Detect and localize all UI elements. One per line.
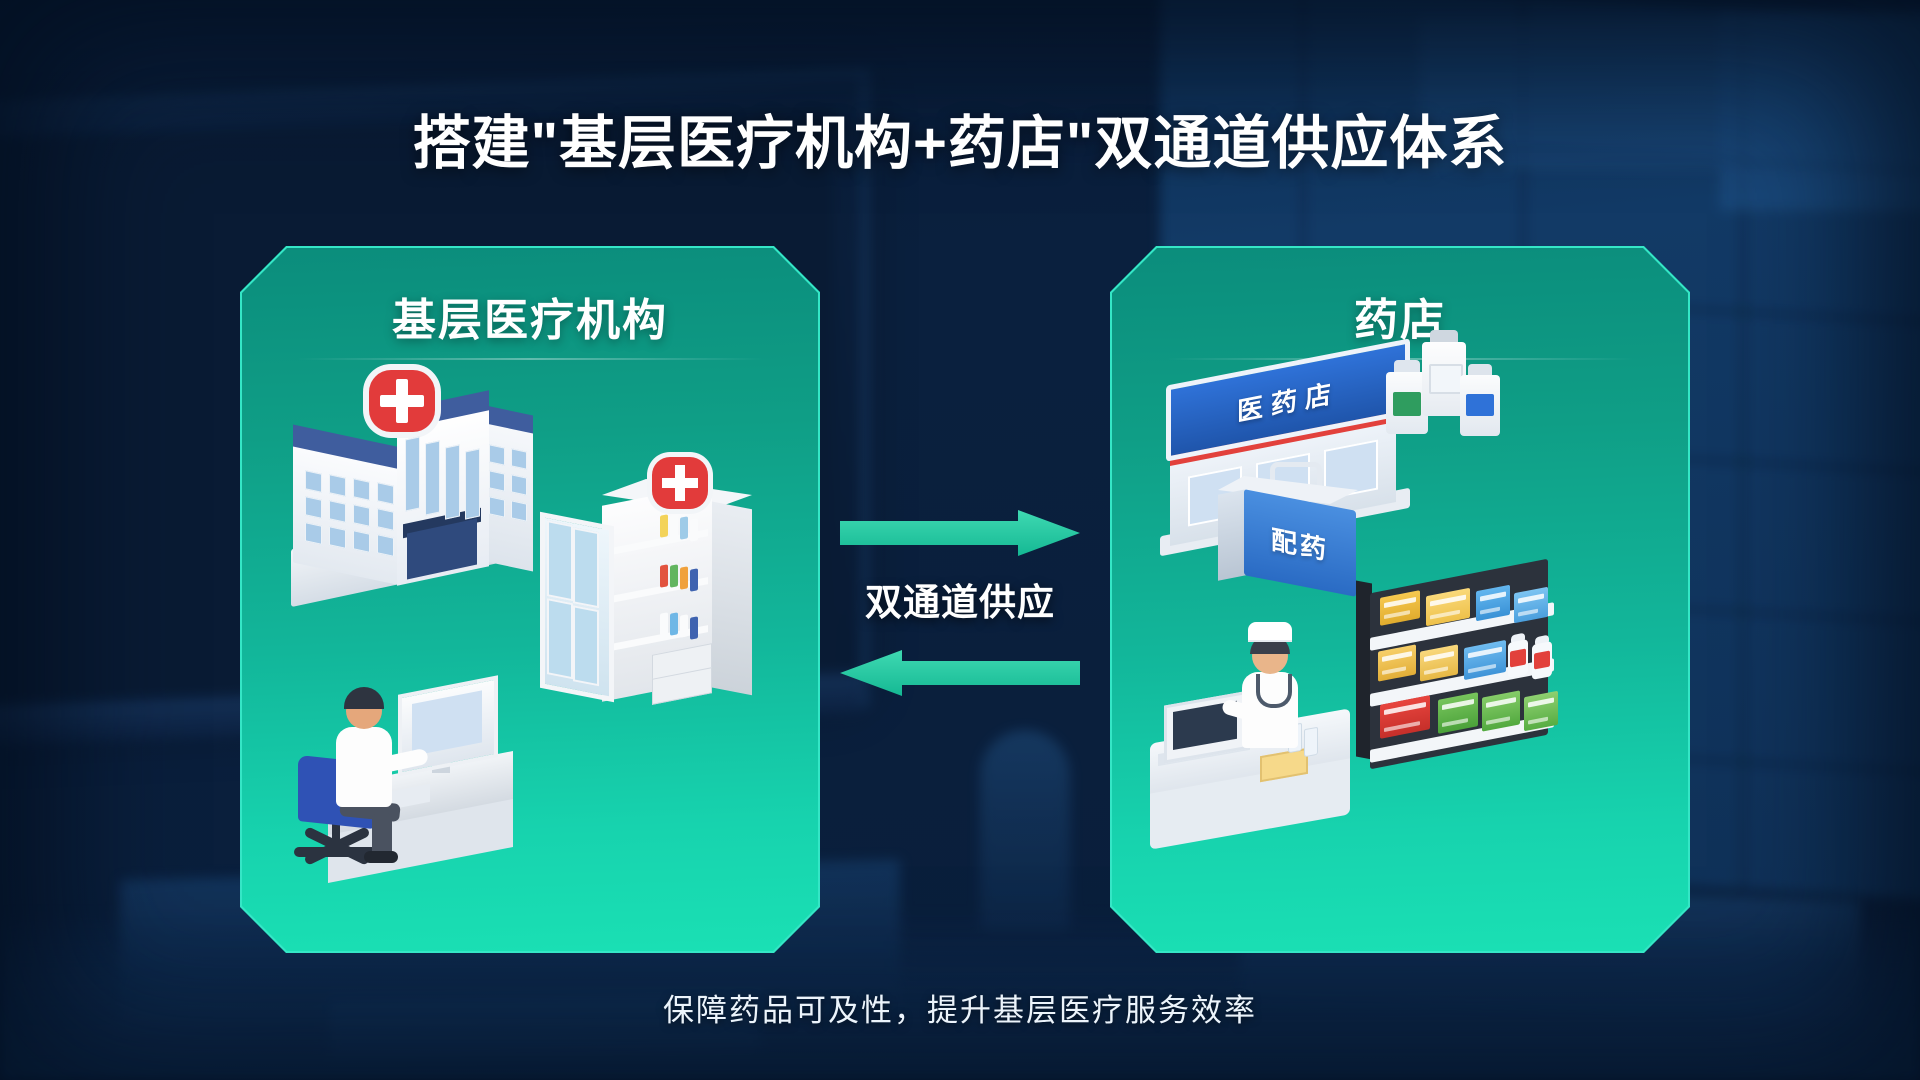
page-title: 搭建"基层医疗机构+药店"双通道供应体系 [0, 96, 1920, 180]
pharmacy-shelf-icon [1356, 576, 1556, 776]
slide-caption: 保障药品可及性，提升基层医疗服务效率 [0, 985, 1920, 1030]
slide-stage: 搭建"基层医疗机构+药店"双通道供应体系 基层医疗机构 [0, 0, 1920, 1080]
card-pharmacy[interactable]: 药店 医药店 [1110, 246, 1690, 953]
pharmacist-at-counter-icon [1138, 606, 1368, 826]
dual-channel-connector: 双通道供应 [830, 480, 1090, 730]
center-label: 双通道供应 [830, 572, 1090, 626]
cabinet-door [540, 512, 614, 702]
arrow-right-icon [840, 510, 1080, 556]
card-primary-care[interactable]: 基层医疗机构 [240, 246, 820, 953]
medicine-cabinet-icon [540, 461, 760, 731]
card-left-artwork [240, 246, 820, 953]
dispensing-box-icon: 配药 [1218, 486, 1358, 596]
red-cross-icon [369, 370, 435, 432]
arrow-left-icon [840, 650, 1080, 696]
cabinet-cross-icon [652, 457, 708, 509]
medicine-bottles-icon [1382, 324, 1502, 444]
doctor-at-computer-icon [280, 641, 550, 891]
dispensing-box-label: 配药 [1244, 489, 1356, 597]
card-right-artwork: 医药店 [1110, 246, 1690, 953]
hospital-building-icon [285, 376, 535, 606]
